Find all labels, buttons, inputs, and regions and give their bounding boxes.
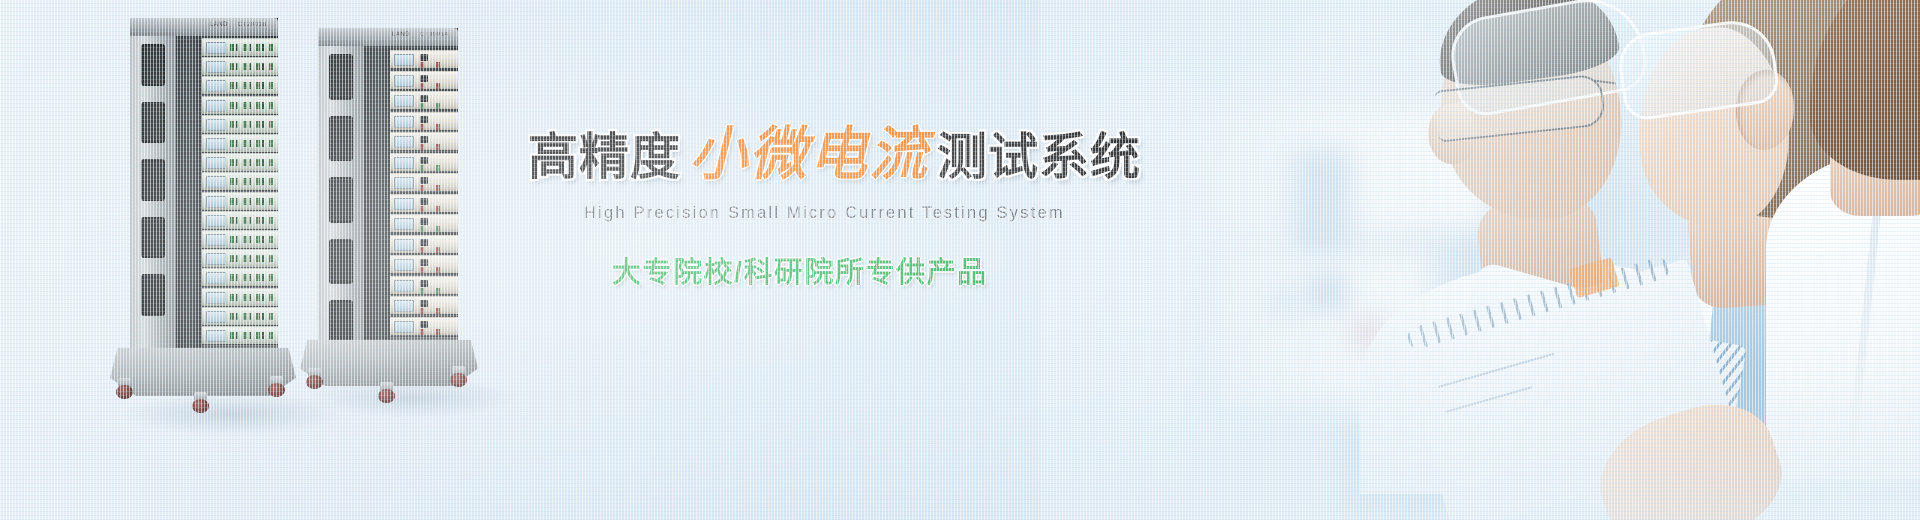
- rack-module: [202, 38, 278, 56]
- module-display: [206, 330, 226, 342]
- rack-module: [390, 317, 458, 335]
- module-indicator: [394, 300, 414, 312]
- caster-wheel-disc: [268, 383, 285, 397]
- rack-module: [202, 96, 278, 114]
- rack-module: [390, 194, 458, 212]
- module-display: [420, 95, 428, 102]
- module-indicator: [394, 157, 414, 169]
- module-indicator: [394, 177, 414, 189]
- rail-vent-slot: [141, 274, 165, 316]
- module-display: [420, 300, 428, 307]
- module-display: [206, 80, 226, 92]
- module-knob-row: [420, 185, 452, 191]
- module-display: [206, 119, 226, 131]
- rack-cabinet-instrument-modules: LAND CT3001A: [318, 28, 458, 358]
- caster-wheel: [192, 392, 209, 413]
- module-display: [206, 272, 226, 284]
- caster-wheel-disc: [192, 399, 209, 413]
- subtitle-chinese: 大专院校/科研院所专供产品: [612, 249, 1048, 291]
- rack-cabinet-green-modules: LAND CT2001B: [130, 18, 278, 366]
- module-display: [420, 54, 428, 61]
- rail-vent-slot: [141, 217, 165, 259]
- rack-module: [390, 112, 458, 130]
- rack-module: [202, 153, 278, 171]
- rack-module: [390, 214, 458, 232]
- module-display: [206, 253, 226, 265]
- rack-module: [390, 132, 458, 150]
- rack-side-rail: [318, 28, 364, 358]
- caster-wheel: [306, 368, 323, 389]
- module-display: [206, 42, 226, 54]
- rack-module: [202, 57, 278, 75]
- module-knob-row: [420, 226, 452, 232]
- rack-module: [202, 76, 278, 94]
- module-knob-row: [420, 103, 452, 109]
- caster-wheel: [378, 382, 395, 403]
- rack-module: [390, 91, 458, 109]
- rack-module: [390, 235, 458, 253]
- module-indicator: [394, 218, 414, 230]
- module-led-row: [230, 159, 273, 166]
- module-display: [206, 234, 226, 246]
- rail-vent-slot: [329, 177, 353, 223]
- rack-base-left: [110, 348, 296, 396]
- module-display: [420, 280, 428, 287]
- rack-module: [202, 230, 278, 248]
- module-indicator: [394, 136, 414, 148]
- module-indicator: [394, 95, 414, 107]
- caster-wheel-disc: [450, 373, 467, 387]
- rack-module: [390, 50, 458, 68]
- caster-wheel: [116, 378, 133, 399]
- rack-module: [202, 249, 278, 267]
- rail-vent-slot: [329, 116, 353, 162]
- module-led-row: [230, 102, 273, 109]
- rack-module: [390, 296, 458, 314]
- caster-wheel-disc: [116, 385, 133, 399]
- module-indicator: [394, 259, 414, 271]
- rack-bay: [390, 28, 458, 358]
- module-knob-row: [420, 124, 452, 130]
- module-indicator: [394, 54, 414, 66]
- module-indicator: [394, 198, 414, 210]
- module-display: [206, 100, 226, 112]
- module-display: [206, 311, 226, 323]
- module-display: [206, 196, 226, 208]
- rack-module: [202, 172, 278, 190]
- subtitle-english: High Precision Small Micro Current Testi…: [584, 204, 1048, 223]
- module-display: [206, 292, 226, 304]
- module-display: [420, 75, 428, 82]
- module-display: [420, 136, 428, 143]
- rack-side-rail: [130, 18, 176, 366]
- caster-wheel: [450, 366, 467, 387]
- caster-wheel: [268, 376, 285, 397]
- module-led-row: [230, 121, 273, 128]
- module-display: [206, 215, 226, 227]
- rack-brand-label: LAND: [392, 32, 410, 38]
- module-indicator: [394, 75, 414, 87]
- rack-module: [390, 173, 458, 191]
- caster-wheel-disc: [378, 389, 395, 403]
- rack-module: [202, 288, 278, 306]
- module-led-row: [230, 82, 273, 89]
- module-display: [420, 116, 428, 123]
- rack-module: [202, 192, 278, 210]
- module-display: [420, 239, 428, 246]
- module-led-row: [230, 274, 273, 281]
- module-led-row: [230, 313, 273, 320]
- module-indicator: [394, 116, 414, 128]
- module-knob-row: [420, 329, 452, 335]
- rail-vent-slot: [141, 159, 165, 201]
- module-led-row: [230, 217, 273, 224]
- module-display: [420, 218, 428, 225]
- module-display: [420, 177, 428, 184]
- module-display: [206, 176, 226, 188]
- module-display: [206, 61, 226, 73]
- module-led-row: [230, 63, 273, 70]
- module-knob-row: [420, 165, 452, 171]
- caster-wheel-disc: [306, 375, 323, 389]
- rack-column: [364, 28, 390, 358]
- module-knob-row: [420, 247, 452, 253]
- photo-fade-overlay: [1040, 0, 1920, 520]
- module-led-row: [230, 198, 273, 205]
- rail-vent-slot: [329, 239, 353, 285]
- module-display: [420, 259, 428, 266]
- rail-vent-slot: [141, 44, 165, 86]
- module-knob-row: [420, 83, 452, 89]
- module-led-row: [230, 140, 273, 147]
- rack-module: [390, 255, 458, 273]
- module-indicator: [394, 239, 414, 251]
- rack-model-label: CT2001B: [238, 22, 267, 28]
- rack-bay: [202, 18, 278, 366]
- module-knob-row: [420, 62, 452, 68]
- rack-module: [202, 115, 278, 133]
- headline-part-2-highlight: 小微电流: [689, 122, 929, 187]
- rail-vent-slot: [329, 54, 353, 100]
- rack-module: [202, 326, 278, 344]
- module-display: [206, 157, 226, 169]
- module-led-row: [230, 294, 273, 301]
- rack-module: [390, 71, 458, 89]
- module-led-row: [230, 236, 273, 243]
- module-led-row: [230, 44, 273, 51]
- module-display: [420, 198, 428, 205]
- rail-vent-slot: [329, 300, 353, 346]
- laboratory-scientists-photo: [1040, 0, 1920, 520]
- rack-module: [202, 268, 278, 286]
- module-knob-row: [420, 267, 452, 273]
- rack-column: [176, 18, 202, 366]
- module-display: [420, 157, 428, 164]
- module-led-row: [230, 178, 273, 185]
- module-knob-row: [420, 308, 452, 314]
- rack-base-right: [300, 340, 478, 386]
- headline-part-1: 高精度: [528, 129, 681, 185]
- module-knob-row: [420, 288, 452, 294]
- module-indicator: [394, 280, 414, 292]
- rack-model-label: CT3001A: [420, 32, 449, 38]
- module-knob-row: [420, 206, 452, 212]
- rack-brand-label: LAND: [210, 22, 228, 28]
- rack-module: [202, 307, 278, 325]
- module-led-row: [230, 332, 273, 339]
- headline: 高精度小微电流测试系统: [528, 126, 1048, 184]
- rack-module: [202, 134, 278, 152]
- module-display: [420, 321, 428, 328]
- rail-vent-slot: [141, 102, 165, 144]
- rack-frame: LAND CT3001A: [318, 28, 458, 358]
- rack-module: [202, 211, 278, 229]
- rack-frame: LAND CT2001B: [130, 18, 278, 366]
- headline-part-3: 测试系统: [937, 129, 1141, 185]
- rack-module: [390, 276, 458, 294]
- banner-copy: 高精度小微电流测试系统 High Precision Small Micro C…: [528, 126, 1048, 291]
- module-indicator: [394, 321, 414, 333]
- product-banner: LAND CT2001B LAND CT3001A: [0, 0, 1920, 520]
- module-display: [206, 138, 226, 150]
- module-knob-row: [420, 144, 452, 150]
- module-led-row: [230, 255, 273, 262]
- rack-module: [390, 153, 458, 171]
